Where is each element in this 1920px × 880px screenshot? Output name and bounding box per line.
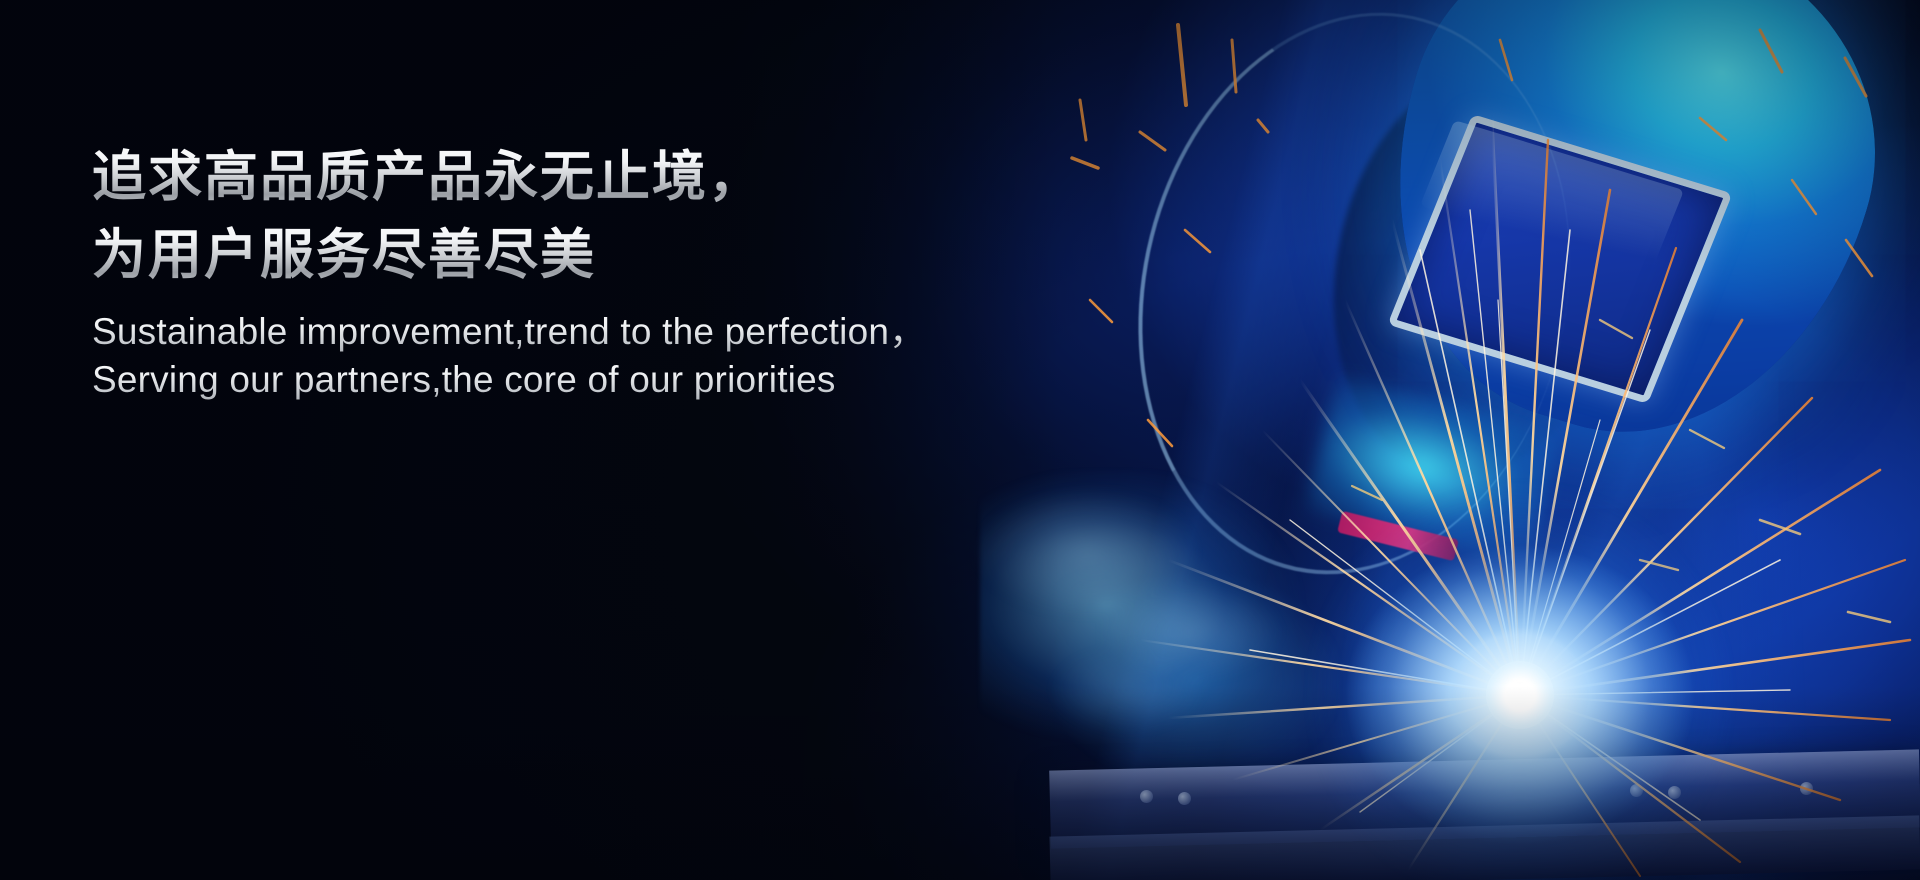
subhead-line-1: Sustainable improvement,trend to the per…	[92, 308, 1072, 356]
welding-photo	[0, 0, 1920, 880]
subhead-line-2: Serving our partners,the core of our pri…	[92, 356, 1072, 404]
subhead-block: Sustainable improvement,trend to the per…	[92, 308, 1072, 404]
hero-copy: 追求高品质产品永无止境， 为用户服务尽善尽美 Sustainable impro…	[92, 138, 1072, 404]
headline-line-1: 追求高品质产品永无止境，	[92, 138, 1072, 216]
hero-banner: 追求高品质产品永无止境， 为用户服务尽善尽美 Sustainable impro…	[0, 0, 1920, 880]
left-gradient-fade	[0, 0, 1920, 880]
headline-line-2: 为用户服务尽善尽美	[92, 216, 1072, 294]
